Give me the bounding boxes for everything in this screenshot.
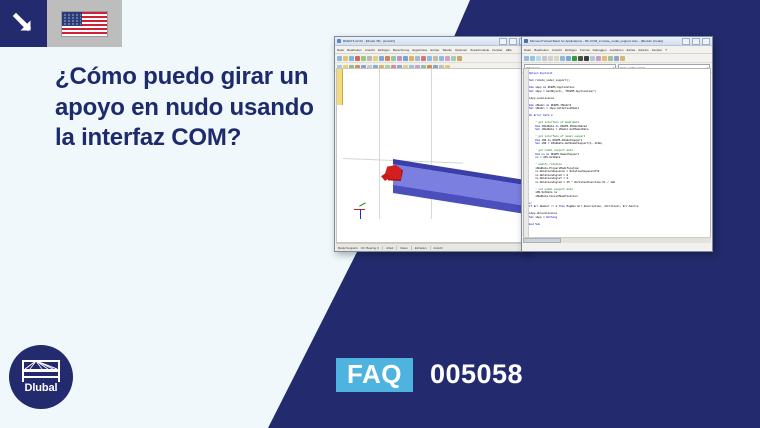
menu-item[interactable]: Format: [580, 48, 590, 52]
rfem-window[interactable]: RFEM 5.22.02 - [Model.rf5] - [Ansicht] D…: [334, 36, 530, 252]
status-cell: Daten: [396, 246, 407, 250]
code-lines-container: Option Explicit Sub rotate_nodal_support…: [529, 72, 707, 226]
structural-member-beam[interactable]: [393, 159, 528, 215]
toolbar-icon-surface[interactable]: [439, 56, 444, 61]
menu-item[interactable]: Ausführen: [610, 48, 624, 52]
slide-canvas: ¿Cómo puedo girar un apoyo en nudo usand…: [0, 0, 760, 428]
menu-item[interactable]: Hilfe: [506, 48, 512, 52]
toolbar-icon-paste[interactable]: [373, 56, 378, 61]
dlubal-logo-text: Dlubal: [24, 383, 57, 394]
status-text: CO: Bearing: 0: [361, 246, 380, 250]
faq-number: 005058: [430, 360, 523, 389]
toolbar-icon-view[interactable]: [415, 56, 420, 61]
status-cell: Einheiten: [411, 246, 427, 250]
menu-item[interactable]: Ansicht: [552, 48, 562, 52]
toolbar-icon-copy[interactable]: [548, 56, 553, 61]
status-text: Model Supports: [338, 246, 358, 250]
minimize-button[interactable]: [682, 38, 690, 45]
faq-badge: FAQ: [336, 358, 413, 392]
menu-item[interactable]: Ansicht: [365, 48, 375, 52]
menu-item[interactable]: Extras: [431, 48, 440, 52]
toolbar-icon-zoom[interactable]: [391, 56, 396, 61]
corner-badges: [0, 0, 122, 47]
menu-item[interactable]: ?: [665, 48, 667, 52]
menu-item[interactable]: Optionen: [455, 48, 467, 52]
navy-background-wedge-bottom: [0, 250, 760, 428]
toolbar-icon-design-mode[interactable]: [590, 56, 595, 61]
toolbar-icon-results[interactable]: [409, 56, 414, 61]
menu-item[interactable]: Datei: [524, 48, 531, 52]
menu-item[interactable]: Fenster: [652, 48, 662, 52]
rfem-menu-bar[interactable]: Datei Bearbeiten Ansicht Einfügen Berech…: [335, 46, 529, 54]
toolbar-icon-object-browser[interactable]: [608, 56, 613, 61]
dlubal-logo: Dlubal: [9, 345, 73, 409]
toolbar-icon-save[interactable]: [349, 56, 354, 61]
menu-item[interactable]: Einfügen: [565, 48, 577, 52]
vba-window-controls[interactable]: [682, 38, 710, 45]
status-cell: Ansicht: [430, 246, 443, 250]
menu-item[interactable]: Berechnung: [393, 48, 409, 52]
vba-app-icon: [524, 39, 528, 43]
toolbar-icon-break[interactable]: [578, 56, 583, 61]
rfem-app-icon: [337, 39, 341, 43]
toolbar-icon-redo[interactable]: [385, 56, 390, 61]
menu-item[interactable]: Datei: [337, 48, 344, 52]
toolbar-icon-find[interactable]: [560, 56, 565, 61]
toolbar-icon-node[interactable]: [427, 56, 432, 61]
menu-item[interactable]: Einfügen: [378, 48, 390, 52]
toolbar-icon-project-explorer[interactable]: [596, 56, 601, 61]
toolbar-icon-run[interactable]: [572, 56, 577, 61]
rfem-model-viewport[interactable]: [336, 68, 528, 243]
arrow-down-right-icon: [0, 0, 47, 47]
toolbar-icon-reset[interactable]: [584, 56, 589, 61]
rfem-status-bar: Model Supports CO: Bearing: 0 Arbeit Dat…: [336, 243, 528, 251]
toolbar-icon-member[interactable]: [433, 56, 438, 61]
rfem-title-text: RFEM 5.22.02 - [Model.rf5] - [Ansicht]: [343, 39, 497, 43]
menu-item[interactable]: Bearbeiten: [347, 48, 362, 52]
menu-item[interactable]: Fenster: [492, 48, 502, 52]
maximize-button[interactable]: [692, 38, 700, 45]
toolbar-icon-toolbox[interactable]: [614, 56, 619, 61]
faq-footer: FAQ 005058: [336, 358, 523, 392]
page-title: ¿Cómo puedo girar un apoyo en nudo usand…: [55, 62, 335, 154]
menu-item[interactable]: Zusatzmodule: [470, 48, 489, 52]
toolbar-icon-copy[interactable]: [367, 56, 372, 61]
menu-item[interactable]: Bearbeiten: [534, 48, 549, 52]
menu-item[interactable]: Tabelle: [442, 48, 452, 52]
toolbar-icon-open[interactable]: [343, 56, 348, 61]
navigator-side-tab[interactable]: [337, 69, 343, 105]
toolbar-icon-new[interactable]: [337, 56, 342, 61]
bridge-truss-icon: [22, 360, 60, 382]
toolbar-icon-cut[interactable]: [361, 56, 366, 61]
menu-item[interactable]: Extras: [627, 48, 636, 52]
toolbar-icon-load[interactable]: [445, 56, 450, 61]
coordinate-axes-indicator: [354, 202, 372, 220]
toolbar-icon-undo[interactable]: [379, 56, 384, 61]
scrollbar-thumb[interactable]: [523, 238, 561, 243]
menu-item[interactable]: Ergebnisse: [412, 48, 427, 52]
horizontal-scrollbar[interactable]: [523, 237, 711, 243]
vba-title-bar: Microsoft Visual Basic for Applications …: [522, 37, 712, 46]
vba-toolbar[interactable]: [522, 54, 712, 63]
vba-menu-bar[interactable]: Datei Bearbeiten Ansicht Einfügen Format…: [522, 46, 712, 54]
code-line: End Sub: [529, 223, 707, 227]
vba-editor-window[interactable]: Microsoft Visual Basic for Applications …: [521, 36, 713, 252]
status-cell: Arbeit: [382, 246, 393, 250]
vba-code-area[interactable]: Option Explicit Sub rotate_nodal_support…: [523, 68, 711, 243]
toolbar-icon-grid[interactable]: [451, 56, 456, 61]
close-button[interactable]: [702, 38, 710, 45]
toolbar-icon-settings[interactable]: [457, 56, 462, 61]
toolbar-icon-view-excel[interactable]: [524, 56, 529, 61]
toolbar-icon-properties[interactable]: [602, 56, 607, 61]
rfem-title-bar: RFEM 5.22.02 - [Model.rf5] - [Ansicht]: [335, 37, 529, 46]
toolbar-icon-paste[interactable]: [554, 56, 559, 61]
toolbar-icon-insert-module[interactable]: [530, 56, 535, 61]
code-margin-indicator-bar: [524, 69, 529, 242]
toolbar-icon-render[interactable]: [397, 56, 402, 61]
us-flag-icon: [47, 0, 122, 47]
toolbar-icon-print[interactable]: [355, 56, 360, 61]
minimize-button[interactable]: [499, 38, 507, 45]
toolbar-icon-cut[interactable]: [542, 56, 547, 61]
grid-line-vertical: [379, 69, 380, 219]
toolbar-icon-calculate[interactable]: [403, 56, 408, 61]
toolbar-icon-undo[interactable]: [566, 56, 571, 61]
toolbar-icon-help[interactable]: [620, 56, 625, 61]
rfem-toolbar-row-1[interactable]: [335, 54, 529, 63]
maximize-button[interactable]: [509, 38, 517, 45]
menu-item[interactable]: Add-Ins: [638, 48, 648, 52]
menu-item[interactable]: Debuggen: [593, 48, 607, 52]
vba-title-text: Microsoft Visual Basic for Applications …: [530, 39, 680, 43]
toolbar-icon-save[interactable]: [536, 56, 541, 61]
toolbar-icon-support[interactable]: [421, 56, 426, 61]
